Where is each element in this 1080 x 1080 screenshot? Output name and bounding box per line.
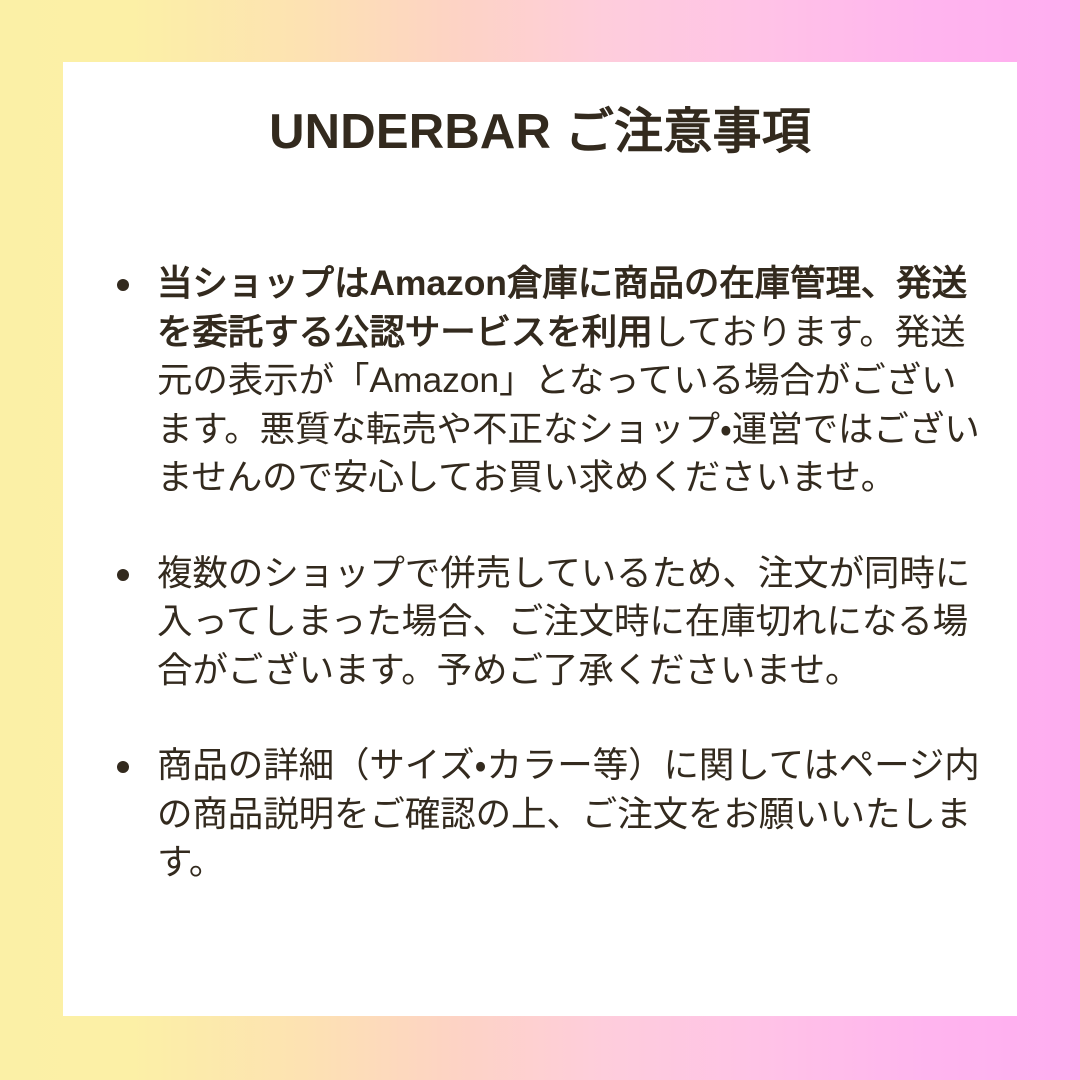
notice-text-1: 当ショップはAmazon倉庫に商品の在庫管理、発送を委託する公認サービスを利用し… bbox=[157, 259, 987, 502]
list-item: 商品の詳細（サイズ・カラー等）に関してはページ内の商品説明をご確認の上、ご注文を… bbox=[106, 741, 987, 887]
notice-card: UNDERBAR ご注意事項 当ショップはAmazon倉庫に商品の在庫管理、発送… bbox=[63, 62, 1017, 1016]
notice-text-2: 複数のショップで併売しているため、注文が同時に入ってしまった場合、ご注文時に在庫… bbox=[157, 549, 987, 695]
notice-list: 当ショップはAmazon倉庫に商品の在庫管理、発送を委託する公認サービスを利用し… bbox=[63, 259, 1017, 887]
list-item: 複数のショップで併売しているため、注文が同時に入ってしまった場合、ご注文時に在庫… bbox=[106, 549, 987, 695]
bullet-dot-icon bbox=[117, 569, 129, 581]
page-title: UNDERBAR ご注意事項 bbox=[63, 104, 1017, 160]
list-item: 当ショップはAmazon倉庫に商品の在庫管理、発送を委託する公認サービスを利用し… bbox=[106, 259, 987, 502]
bullet-dot-icon bbox=[117, 279, 129, 291]
notice-graphic: UNDERBAR ご注意事項 当ショップはAmazon倉庫に商品の在庫管理、発送… bbox=[0, 0, 1080, 1080]
notice-text-3: 商品の詳細（サイズ・カラー等）に関してはページ内の商品説明をご確認の上、ご注文を… bbox=[157, 741, 987, 887]
bullet-dot-icon bbox=[117, 761, 129, 773]
